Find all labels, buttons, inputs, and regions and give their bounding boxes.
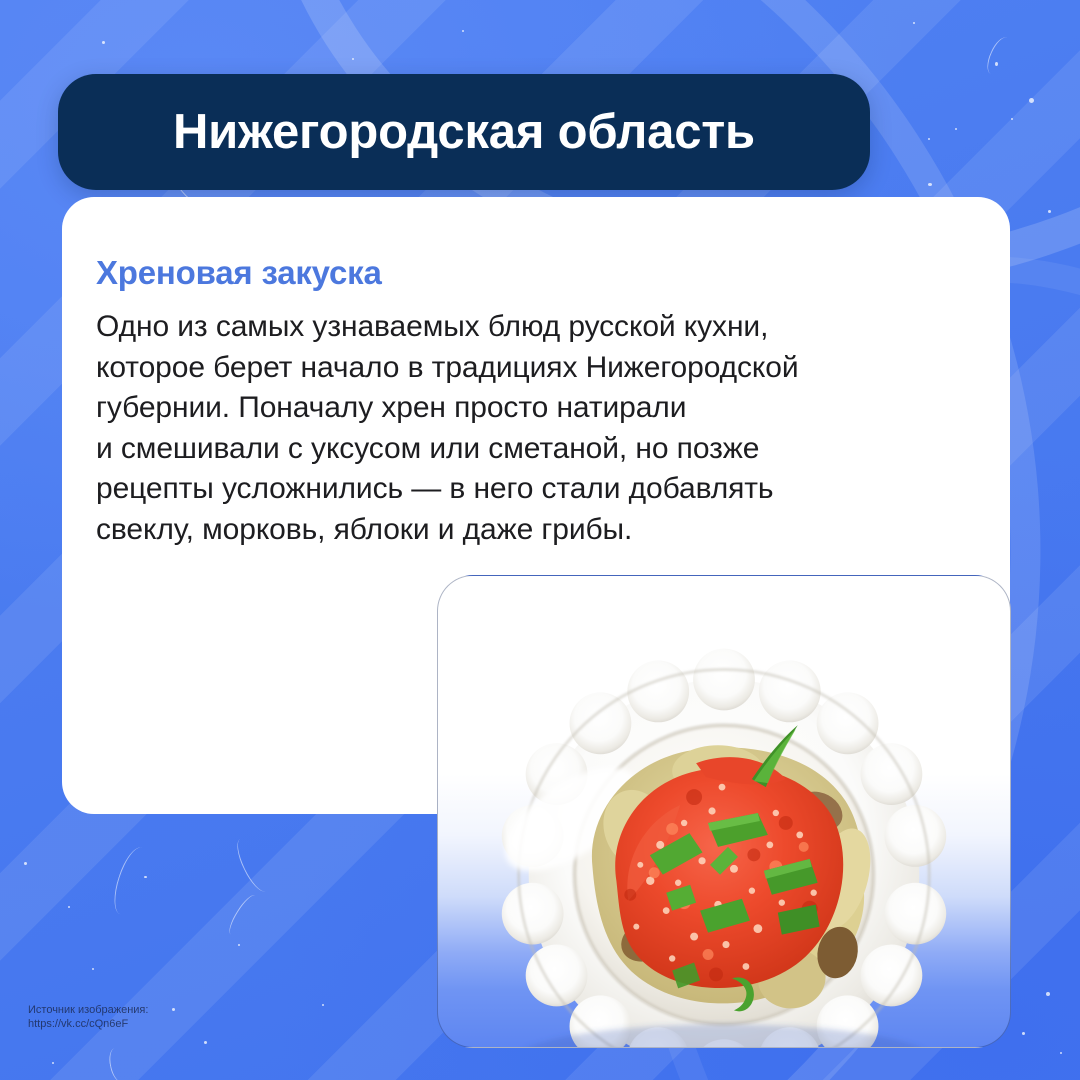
image-source-credit: Источник изображения: https://vk.cc/cQn6… bbox=[28, 1003, 148, 1031]
dish-photo-card bbox=[437, 575, 1011, 1048]
region-title: Нижегородская область bbox=[173, 104, 755, 160]
slide-canvas: Нижегородская область Хреновая закуска О… bbox=[0, 0, 1080, 1080]
dish-photo bbox=[438, 576, 1010, 1047]
dish-description: Одно из самых узнаваемых блюд русской ку… bbox=[96, 307, 984, 550]
dish-heading: Хреновая закуска bbox=[96, 254, 382, 292]
region-title-banner: Нижегородская область bbox=[58, 74, 870, 190]
